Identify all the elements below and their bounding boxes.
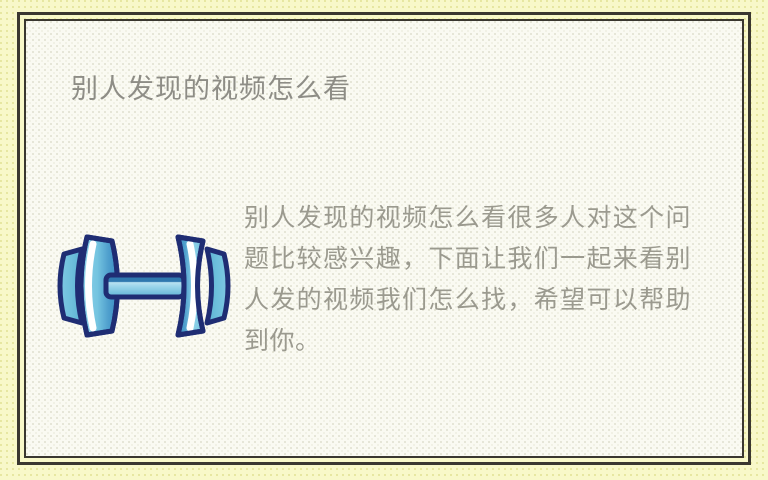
dumbbell-bar [106, 275, 184, 297]
page-title: 别人发现的视频怎么看 [71, 73, 351, 105]
dumbbell-icon [44, 211, 244, 361]
article-content-row: 别人发现的视频怎么看很多人对这个问题比较感兴趣，下面让我们一起来看别人发的视频我… [26, 197, 742, 361]
decorative-frame-outer: 别人发现的视频怎么看 [17, 12, 751, 465]
decorative-frame-inner: 别人发现的视频怎么看 [24, 19, 744, 458]
dumbbell-illustration [26, 197, 244, 361]
article-body-text: 别人发现的视频怎么看很多人对这个问题比较感兴趣，下面让我们一起来看别人发的视频我… [244, 197, 737, 361]
dumbbell-plate-right-outer [207, 249, 228, 323]
page-background: 别人发现的视频怎么看 [0, 0, 768, 480]
